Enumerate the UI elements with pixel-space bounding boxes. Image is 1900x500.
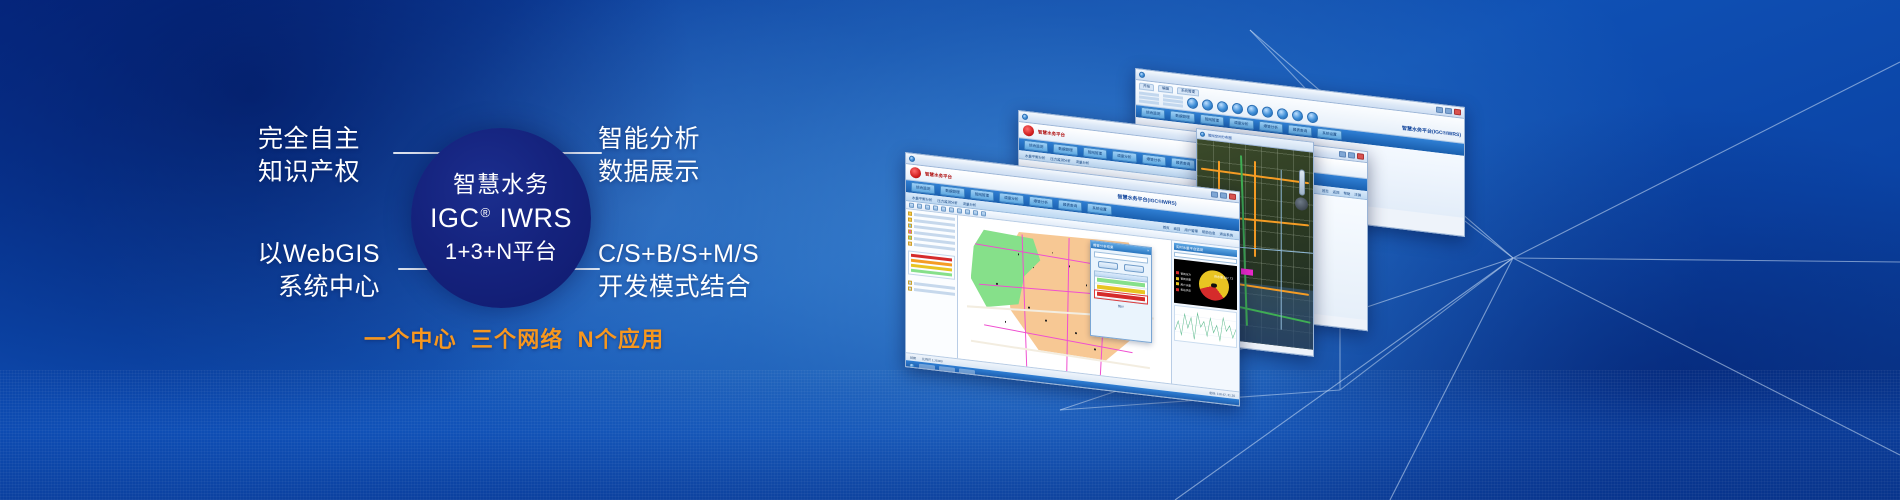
minimize-icon[interactable] xyxy=(1211,191,1218,198)
pie-legend-label: 管网压力 xyxy=(1181,271,1191,276)
app-orb-icon xyxy=(909,155,915,162)
ribbon-orb-9[interactable] xyxy=(1307,111,1318,123)
window-back-title-text: 智慧水务平台(IGC®IWRS) xyxy=(1402,125,1461,139)
front-subnav-2[interactable]: 流量分析 xyxy=(963,200,977,207)
registered-mark-icon: ® xyxy=(480,206,490,219)
feature-top-left-line1: 完全自主 xyxy=(258,125,360,153)
ribbon-orb-3[interactable] xyxy=(1217,101,1228,113)
identify-tool-icon[interactable] xyxy=(949,207,954,213)
map-node[interactable] xyxy=(1018,254,1020,256)
pie-legend-label: 泵站状态 xyxy=(1181,288,1191,293)
tagline-part2: 三个网络 xyxy=(471,327,564,352)
close-icon[interactable] xyxy=(1454,109,1461,116)
feature-top-right-line1: 智能分析 xyxy=(598,125,700,153)
ribbon-orb-6[interactable] xyxy=(1262,106,1273,118)
pie-legend-label: 用户水量 xyxy=(1181,282,1191,287)
ribbon-orb-5[interactable] xyxy=(1247,104,1258,116)
print-tool-icon[interactable] xyxy=(965,209,970,215)
ribbon-orb-8[interactable] xyxy=(1292,110,1303,122)
ribbon-tab-2[interactable]: 系统管理 xyxy=(1177,87,1199,97)
flow-line-chart xyxy=(1174,305,1237,348)
close-icon[interactable] xyxy=(1357,153,1364,160)
window-front[interactable]: 智慧水务平台 智慧水务平台(IGC®IWRS) 综合监测 数据管理 管网管理 调… xyxy=(905,152,1240,407)
core-subtitle: 1+3+N平台 xyxy=(445,241,557,263)
app-orb-icon xyxy=(1139,71,1145,78)
sat-road-v2 xyxy=(1254,161,1256,257)
mid-subnav-0[interactable]: 水量平衡分析 xyxy=(1025,152,1045,159)
core-brand: IGC xyxy=(430,205,480,232)
brand-label: 智慧水务平台 xyxy=(925,171,952,180)
pie-chart-wrap: 供水量:522.73 xyxy=(1193,268,1235,303)
map-node[interactable] xyxy=(1005,321,1007,323)
feature-top-right-line2: 数据展示 xyxy=(598,156,700,189)
dialog-close-icon[interactable]: × xyxy=(1147,249,1149,253)
map-node[interactable] xyxy=(1045,320,1047,322)
ribbon-group-left[interactable] xyxy=(1139,91,1159,104)
window-satellite-title-text: 管网空间分布图 xyxy=(1208,132,1232,140)
front-subnav-0[interactable]: 水量平衡分析 xyxy=(912,194,932,201)
mid-subnav-1[interactable]: 压力监测分析 xyxy=(1050,155,1070,162)
ribbon-tab-1[interactable]: 编辑 xyxy=(1158,85,1173,94)
mid-subnav-2[interactable]: 流量分析 xyxy=(1076,158,1090,165)
front-link-2[interactable]: 用户管理 xyxy=(1184,226,1198,233)
search-tool-icon[interactable] xyxy=(981,211,986,217)
measure-tool-icon[interactable] xyxy=(941,206,946,212)
zoom-slider[interactable] xyxy=(1299,169,1305,196)
map-node[interactable] xyxy=(1075,332,1077,334)
window-controls[interactable] xyxy=(1436,107,1461,116)
pie-legend: 管网压力 管网流量 用户水量 泵站状态 xyxy=(1176,271,1191,293)
minimize-icon[interactable] xyxy=(1339,151,1346,158)
dialog-body: 统计 xyxy=(1091,248,1151,315)
close-icon[interactable] xyxy=(1229,193,1236,200)
map-navigation-control[interactable] xyxy=(1295,169,1308,212)
map-node[interactable] xyxy=(996,283,998,285)
select-tool-icon[interactable] xyxy=(957,208,962,214)
dialog-result-table[interactable] xyxy=(1094,270,1148,304)
map-node[interactable] xyxy=(1094,349,1096,351)
monitoring-panel[interactable]: 实时水量平台监测 管网压力 管网流量 用户水量 泵站状态 供水量:522.73 xyxy=(1171,240,1239,391)
ribbon-orb-2[interactable] xyxy=(1202,99,1213,111)
window-front-frame[interactable]: 智慧水务平台 智慧水务平台(IGC®IWRS) 综合监测 数据管理 管网管理 调… xyxy=(905,152,1240,407)
feature-top-left: 完全自主 知识产权 xyxy=(258,123,360,189)
feature-bottom-left-line1: 以WebGIS xyxy=(257,240,380,268)
front-link-1[interactable]: 返回 xyxy=(1174,225,1181,231)
tagline-part3: N个应用 xyxy=(578,327,665,352)
tagline: 一个中心三个网络N个应用 xyxy=(364,322,664,354)
map-orb-icon xyxy=(1200,131,1205,137)
map-legend xyxy=(908,250,955,280)
minimize-icon[interactable] xyxy=(1436,107,1443,114)
satellite-selection-highlight xyxy=(1241,268,1253,275)
dialog-cancel-button[interactable] xyxy=(1124,263,1144,272)
core-cn-title: 智慧水务 xyxy=(453,173,549,196)
pointer-tool-icon[interactable] xyxy=(909,202,914,208)
status-item-0: 就绪 xyxy=(910,355,916,360)
app-orb-icon xyxy=(1022,113,1028,120)
window-controls[interactable] xyxy=(1339,151,1364,160)
ribbon-orb-7[interactable] xyxy=(1277,108,1288,120)
tagline-part1: 一个中心 xyxy=(364,327,457,352)
flow-line-chart-svg xyxy=(1175,306,1236,347)
ribbon-group-left2[interactable] xyxy=(1163,94,1183,107)
feature-top-left-line2: 知识产权 xyxy=(258,156,360,189)
mid-link-2[interactable]: 帮助 xyxy=(1343,190,1350,196)
pan-tool-icon[interactable] xyxy=(917,203,922,209)
maximize-icon[interactable] xyxy=(1220,192,1227,199)
feature-bottom-right-line2: 开发模式结合 xyxy=(598,271,759,304)
feature-bottom-right: C/S+B/S+M/S 开发模式结合 xyxy=(598,238,759,304)
water-drop-logo-icon xyxy=(1023,125,1034,137)
mid-link-1[interactable]: 返回 xyxy=(1333,189,1340,195)
supply-pie-chart: 管网压力 管网流量 用户水量 泵站状态 供水量:522.73 xyxy=(1174,259,1237,310)
pie-legend-item: 泵站状态 xyxy=(1176,287,1191,293)
front-link-4[interactable]: 退出系统 xyxy=(1219,231,1233,238)
banner-root: 完全自主 知识产权 以WebGIS 系统中心 智能分析 数据展示 C/S+B/S… xyxy=(0,0,1900,500)
layer-tree-panel[interactable] xyxy=(906,209,958,358)
map-node[interactable] xyxy=(1028,306,1030,308)
feature-top-right: 智能分析 数据展示 xyxy=(598,123,700,189)
feature-bottom-right-line1: C/S+B/S+M/S xyxy=(598,240,759,268)
dialog-confirm-button[interactable] xyxy=(1098,260,1118,269)
zoom-out-tool-icon[interactable] xyxy=(933,205,938,211)
start-button-icon[interactable] xyxy=(909,362,915,369)
zoom-in-tool-icon[interactable] xyxy=(925,204,930,210)
front-subnav-1[interactable]: 压力监测分析 xyxy=(937,197,957,204)
feature-bottom-left: 以WebGIS 系统中心 xyxy=(257,238,380,304)
ribbon-tab-0[interactable]: 开始 xyxy=(1139,82,1154,91)
brand-label: 智慧水务平台 xyxy=(1038,129,1065,138)
layer-tool-icon[interactable] xyxy=(973,210,978,216)
mid-link-0[interactable]: 首页 xyxy=(1322,187,1329,193)
core-circle-badge: 智慧水务 IGC®IWRS 1+3+N平台 xyxy=(411,128,591,308)
pan-pad-icon[interactable] xyxy=(1295,197,1308,212)
ribbon-orb-4[interactable] xyxy=(1232,102,1243,114)
mid-link-3[interactable]: 注销 xyxy=(1354,191,1361,197)
gis-map-canvas[interactable]: 爆管分析结果 × xyxy=(958,215,1171,383)
front-link-3[interactable]: 帮助信息 xyxy=(1202,229,1216,236)
maximize-icon[interactable] xyxy=(1348,152,1355,159)
feature-bottom-left-line2: 系统中心 xyxy=(257,271,380,304)
burst-analysis-dialog[interactable]: 爆管分析结果 × xyxy=(1090,239,1152,342)
window-front-title-text: 智慧水务平台(IGC®IWRS) xyxy=(1118,193,1177,207)
water-drop-logo-icon xyxy=(910,167,921,179)
sat-road-blue-v1 xyxy=(1280,170,1281,330)
window-controls[interactable] xyxy=(1211,191,1236,200)
core-product-line: IGC®IWRS xyxy=(430,205,572,232)
pie-legend-label: 管网流量 xyxy=(1181,277,1191,282)
core-product: IWRS xyxy=(500,205,573,232)
ribbon-orb-1[interactable] xyxy=(1187,97,1198,109)
maximize-icon[interactable] xyxy=(1445,108,1452,115)
front-link-0[interactable]: 首页 xyxy=(1163,224,1170,230)
